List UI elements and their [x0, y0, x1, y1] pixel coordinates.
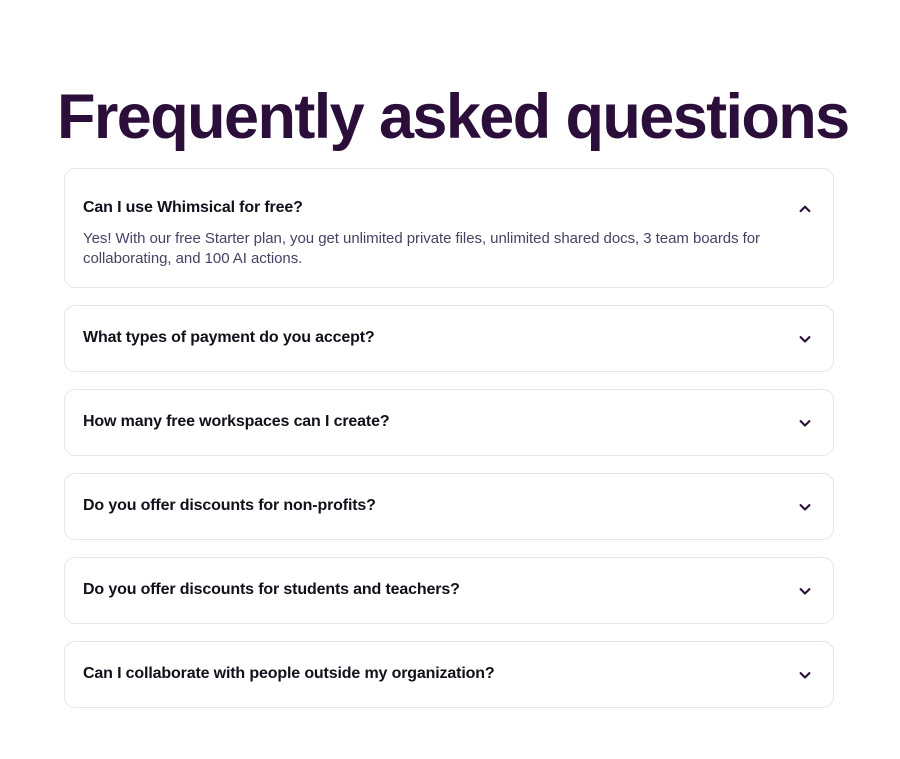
faq-answer-text: Yes! With our free Starter plan, you get…	[83, 221, 783, 269]
faq-item[interactable]: Can I collaborate with people outside my…	[64, 641, 834, 708]
page-title: Frequently asked questions	[57, 86, 857, 149]
chevron-up-icon[interactable]	[795, 199, 815, 219]
faq-question-label: What types of payment do you accept?	[83, 328, 395, 349]
faq-question-label: Can I collaborate with people outside my…	[83, 664, 515, 685]
faq-item-header[interactable]: Do you offer discounts for non-profits?	[83, 474, 815, 539]
faq-page: Frequently asked questions Can I use Whi…	[0, 0, 900, 759]
chevron-down-icon[interactable]	[795, 329, 815, 349]
faq-question-label: Can I use Whimsical for free?	[83, 198, 323, 219]
faq-accordion-list: Can I use Whimsical for free? Yes! With …	[64, 168, 834, 725]
faq-item-header[interactable]: Can I collaborate with people outside my…	[83, 642, 815, 707]
faq-item[interactable]: Can I use Whimsical for free? Yes! With …	[64, 168, 834, 288]
chevron-down-icon[interactable]	[795, 413, 815, 433]
chevron-down-icon[interactable]	[795, 581, 815, 601]
faq-item[interactable]: Do you offer discounts for students and …	[64, 557, 834, 624]
faq-question-label: How many free workspaces can I create?	[83, 412, 409, 433]
faq-item-header[interactable]: Do you offer discounts for students and …	[83, 558, 815, 623]
faq-item-header[interactable]: What types of payment do you accept?	[83, 306, 815, 371]
faq-item[interactable]: Do you offer discounts for non-profits?	[64, 473, 834, 540]
faq-question-label: Do you offer discounts for students and …	[83, 580, 480, 601]
chevron-down-icon[interactable]	[795, 665, 815, 685]
faq-question-label: Do you offer discounts for non-profits?	[83, 496, 396, 517]
faq-item-header[interactable]: Can I use Whimsical for free?	[83, 169, 815, 221]
chevron-down-icon[interactable]	[795, 497, 815, 517]
faq-item[interactable]: How many free workspaces can I create?	[64, 389, 834, 456]
faq-item-header[interactable]: How many free workspaces can I create?	[83, 390, 815, 455]
faq-item[interactable]: What types of payment do you accept?	[64, 305, 834, 372]
